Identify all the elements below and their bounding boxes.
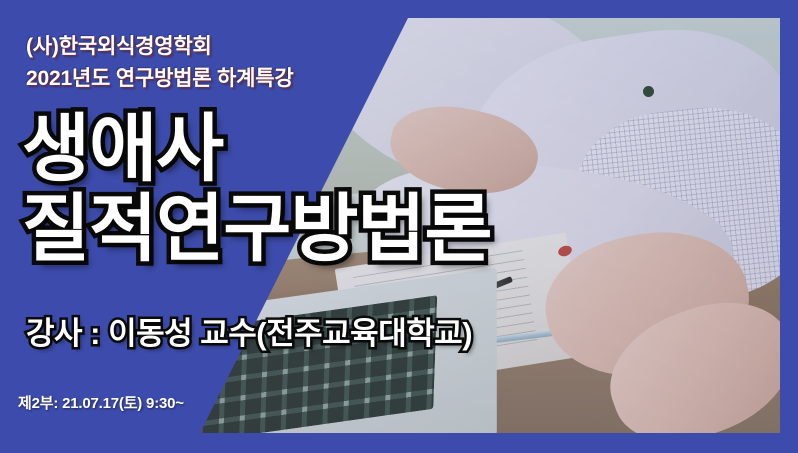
- page-title-line-2: 질적연구방법론: [22, 192, 492, 266]
- poster-banner: (사)한국외식경영학회 2021년도 연구방법론 하계특강 생애사 질적연구방법…: [0, 0, 798, 453]
- program-subtitle: 2021년도 연구방법론 하계특강: [26, 62, 294, 92]
- organization-name: (사)한국외식경영학회: [26, 30, 212, 60]
- speaker-info: 강사 : 이동성 교수(전주교육대학교): [26, 318, 472, 349]
- session-schedule: 제2부: 21.07.17(토) 9:30~: [18, 392, 184, 413]
- page-title-line-1: 생애사: [22, 112, 223, 186]
